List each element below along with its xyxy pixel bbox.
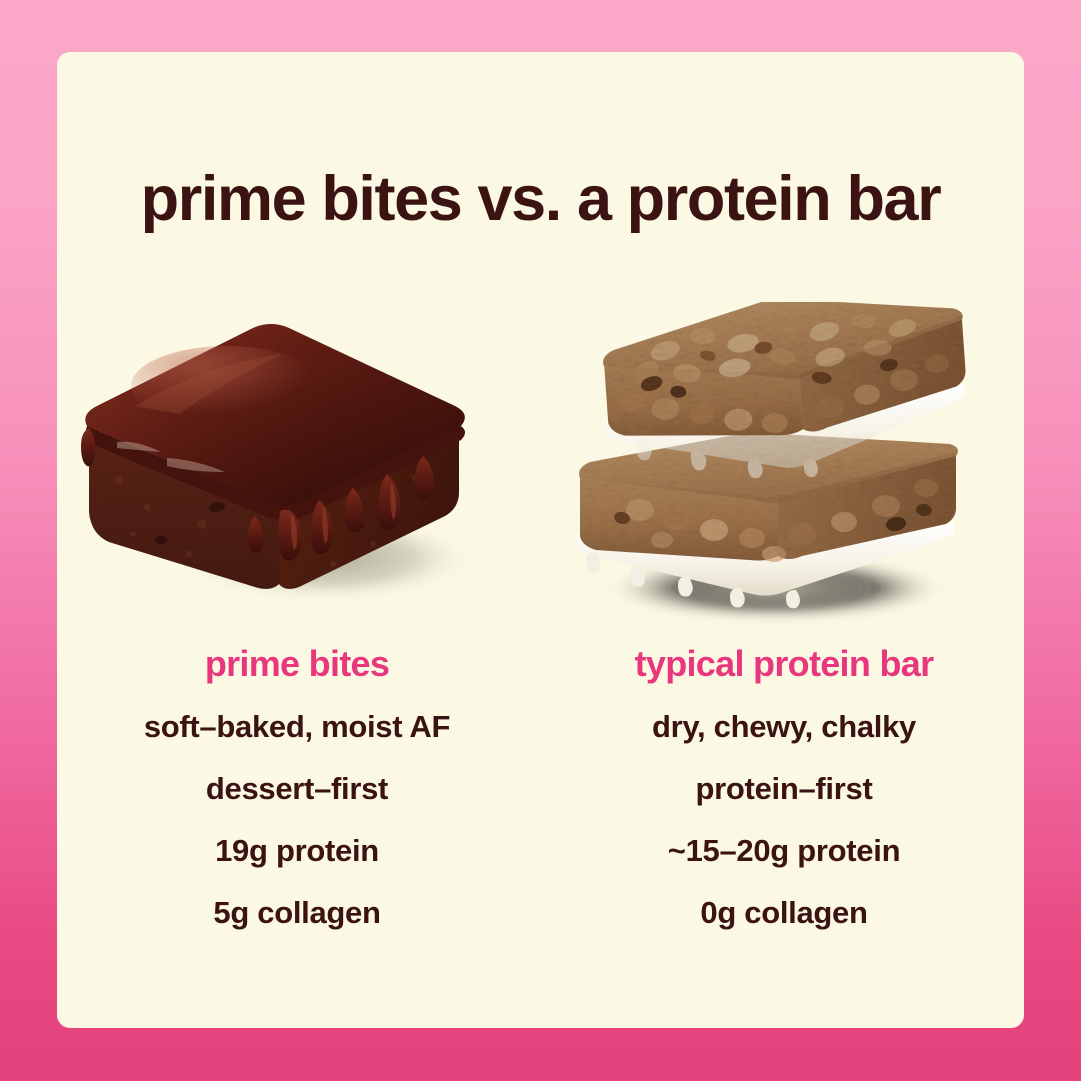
brownie-image [57,302,537,632]
fact-item: 0g collagen [544,894,1024,932]
fact-item: soft–baked, moist AF [57,708,537,746]
column-prime-bites: prime bites soft–baked, moist AF dessert… [57,302,537,1002]
fact-item: dessert–first [57,770,537,808]
column-heading-typical-protein-bar: typical protein bar [544,643,1024,685]
protein-bar-image [544,302,1024,632]
column-heading-prime-bites: prime bites [57,643,537,685]
fact-item: 19g protein [57,832,537,870]
fact-item: dry, chewy, chalky [544,708,1024,746]
fact-list-typical-protein-bar: dry, chewy, chalky protein–first ~15–20g… [544,708,1024,956]
fact-list-prime-bites: soft–baked, moist AF dessert–first 19g p… [57,708,537,956]
infographic-root: prime bites vs. a protein bar [0,0,1081,1081]
content-card: prime bites vs. a protein bar [57,52,1024,1028]
fact-item: ~15–20g protein [544,832,1024,870]
fact-item: 5g collagen [57,894,537,932]
page-title: prime bites vs. a protein bar [57,164,1024,234]
fact-item: protein–first [544,770,1024,808]
column-typical-protein-bar: typical protein bar dry, chewy, chalky p… [544,302,1024,1002]
